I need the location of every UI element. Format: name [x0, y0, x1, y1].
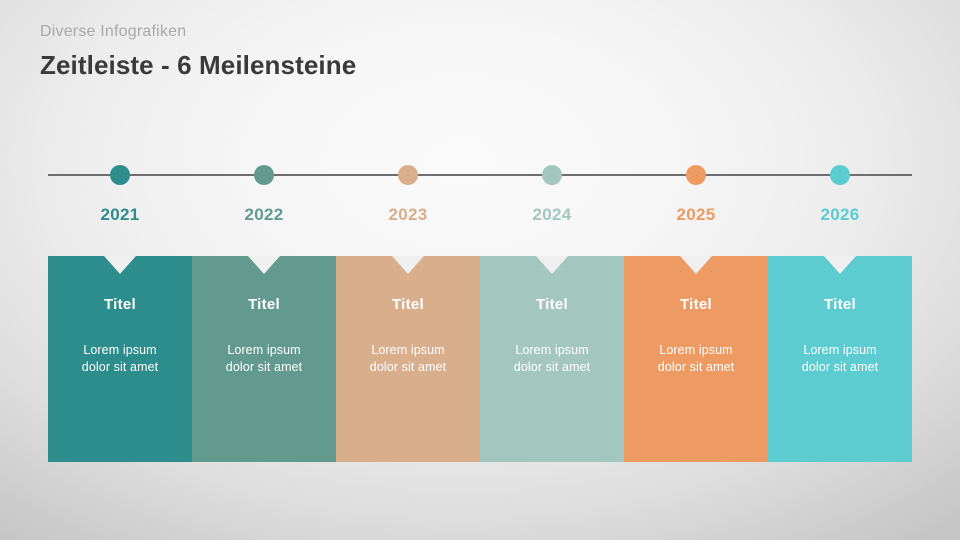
panel-title: Titel — [248, 295, 280, 315]
panel-title: Titel — [824, 295, 856, 315]
slide-kicker: Diverse Infografiken — [40, 22, 356, 42]
timeline-dot-2026[interactable] — [830, 165, 850, 185]
panel-body-text: Lorem ipsum dolor sit amet — [82, 342, 158, 376]
panel-notch-icon — [248, 256, 280, 274]
timeline-dot-2024[interactable] — [542, 165, 562, 185]
panel-notch-icon — [536, 256, 568, 274]
timeline-year-2022: 2022 — [244, 205, 283, 225]
page-title: Zeitleiste - 6 Meilensteine — [40, 48, 356, 82]
timeline-axis-line — [48, 174, 912, 176]
timeline-year-2023: 2023 — [388, 205, 427, 225]
milestone-panel-2023[interactable]: TitelLorem ipsum dolor sit amet — [336, 256, 480, 462]
milestone-panel-2026[interactable]: TitelLorem ipsum dolor sit amet — [768, 256, 912, 462]
panel-notch-icon — [680, 256, 712, 274]
panel-title: Titel — [536, 295, 568, 315]
timeline-year-2025: 2025 — [676, 205, 715, 225]
timeline-year-2026: 2026 — [820, 205, 859, 225]
milestone-panel-2024[interactable]: TitelLorem ipsum dolor sit amet — [480, 256, 624, 462]
panel-notch-icon — [824, 256, 856, 274]
timeline-year-2021: 2021 — [100, 205, 139, 225]
panel-title: Titel — [104, 295, 136, 315]
panel-title: Titel — [680, 295, 712, 315]
panel-body-text: Lorem ipsum dolor sit amet — [370, 342, 446, 376]
milestone-panel-2021[interactable]: TitelLorem ipsum dolor sit amet — [48, 256, 192, 462]
panel-body-text: Lorem ipsum dolor sit amet — [514, 342, 590, 376]
panel-notch-icon — [104, 256, 136, 274]
slide-canvas: Diverse Infografiken Zeitleiste - 6 Meil… — [0, 0, 960, 540]
timeline-dot-2021[interactable] — [110, 165, 130, 185]
slide-header: Diverse Infografiken Zeitleiste - 6 Meil… — [40, 22, 356, 82]
panel-body-text: Lorem ipsum dolor sit amet — [226, 342, 302, 376]
panel-title: Titel — [392, 295, 424, 315]
panel-notch-icon — [392, 256, 424, 274]
timeline-dot-2025[interactable] — [686, 165, 706, 185]
panel-body-text: Lorem ipsum dolor sit amet — [658, 342, 734, 376]
timeline-dot-2022[interactable] — [254, 165, 274, 185]
panel-body-text: Lorem ipsum dolor sit amet — [802, 342, 878, 376]
milestone-panel-2022[interactable]: TitelLorem ipsum dolor sit amet — [192, 256, 336, 462]
milestone-panel-2025[interactable]: TitelLorem ipsum dolor sit amet — [624, 256, 768, 462]
timeline-dot-2023[interactable] — [398, 165, 418, 185]
milestone-panel-strip: TitelLorem ipsum dolor sit ametTitelLore… — [48, 256, 912, 462]
timeline-year-2024: 2024 — [532, 205, 571, 225]
